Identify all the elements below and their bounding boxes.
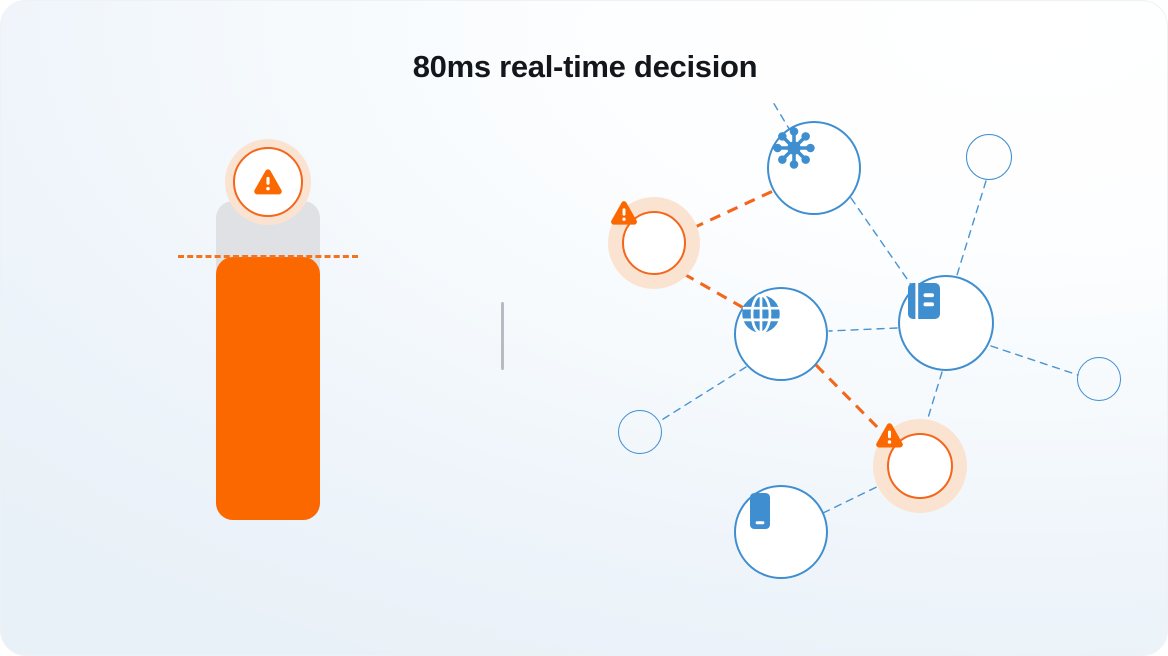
edge-globe-empty3 (660, 367, 746, 421)
illustration-card: 80ms real-time decision (0, 0, 1168, 656)
illustration-stage: 80ms real-time decision (0, 0, 1168, 656)
edge-empty1-book (957, 181, 986, 275)
warning-triangle-icon (608, 197, 640, 229)
graph-node-globe[interactable] (734, 287, 828, 381)
graph-node-mobile-phone[interactable] (734, 485, 828, 579)
threat-network-graph (1, 1, 1168, 656)
graph-node-empty-3[interactable] (618, 410, 662, 454)
warning-triangle-icon (873, 419, 906, 452)
edge-book-empty2 (991, 346, 1078, 375)
graph-node-empty-2[interactable] (1077, 357, 1121, 401)
graph-node-ledger-book[interactable] (898, 275, 994, 371)
network-hub-icon (769, 123, 819, 173)
edge-book-globe (829, 328, 897, 331)
edge-warn1-hub (693, 191, 773, 228)
graph-node-network-hub[interactable] (767, 121, 861, 215)
ledger-book-icon (900, 277, 948, 325)
graph-node-alert-1[interactable] (608, 197, 700, 289)
mobile-phone-icon (736, 487, 784, 535)
graph-alert-1-core (622, 211, 686, 275)
graph-alert-2-core (887, 433, 953, 499)
globe-icon (736, 289, 786, 339)
graph-node-alert-2[interactable] (873, 419, 967, 513)
edge-hub-book (851, 198, 914, 289)
graph-node-empty-1[interactable] (966, 134, 1012, 180)
